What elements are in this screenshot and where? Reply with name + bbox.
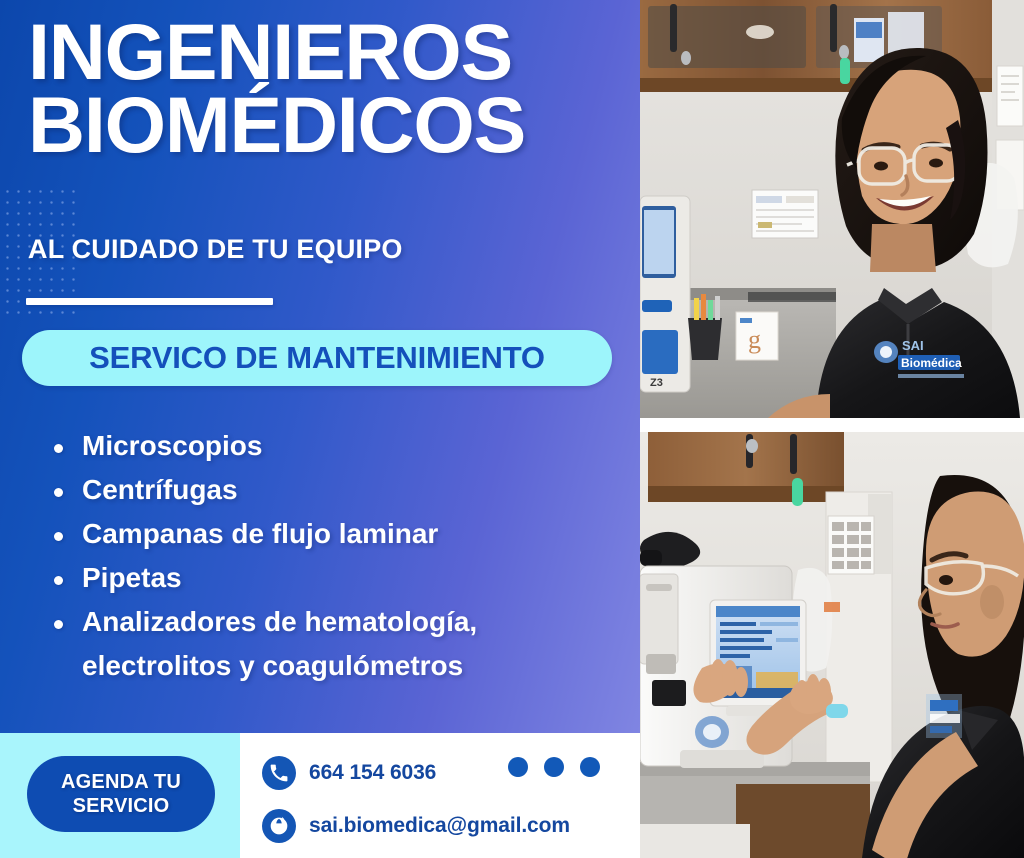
- globe-icon: [262, 809, 296, 843]
- dot: [508, 757, 528, 777]
- technician-operating-analyzer-photo: [640, 432, 1024, 858]
- list-item: Microscopios: [44, 424, 614, 468]
- divider-rule: [26, 298, 273, 305]
- dot-separator-decoration: [508, 757, 600, 777]
- list-item: Campanas de flujo laminar: [44, 512, 614, 556]
- list-item: Centrífugas: [44, 468, 614, 512]
- subtitle: AL CUIDADO DE TU EQUIPO: [28, 234, 403, 265]
- list-item: Pipetas: [44, 556, 614, 600]
- contact-footer: AGENDA TU SERVICIO 664 154 6036 sai.biom…: [0, 733, 640, 858]
- dot: [544, 757, 564, 777]
- left-content-panel: INGENIEROS BIOMÉDICOS AL CUIDADO DE TU E…: [0, 0, 640, 733]
- poster-canvas: INGENIEROS BIOMÉDICOS AL CUIDADO DE TU E…: [0, 0, 1024, 858]
- svg-text:Biomédica: Biomédica: [901, 356, 962, 370]
- headline-line-2: BIOMÉDICOS: [28, 89, 628, 162]
- service-banner-label: SERVICO DE MANTENIMIENTO: [89, 340, 545, 376]
- service-banner: SERVICO DE MANTENIMIENTO: [22, 330, 612, 386]
- phone-icon: [262, 756, 296, 790]
- lab-technician-portrait-photo: Z3 g: [640, 0, 1024, 418]
- cta-line-1: AGENDA TU: [61, 770, 181, 794]
- list-item: Analizadores de hematología, electrolito…: [44, 600, 614, 688]
- email-address: sai.biomedica@gmail.com: [309, 814, 570, 838]
- svg-text:SAI: SAI: [902, 338, 924, 353]
- svg-text:g: g: [748, 325, 761, 354]
- phone-number: 664 154 6036: [309, 761, 436, 785]
- page-title: INGENIEROS BIOMÉDICOS: [28, 16, 628, 161]
- schedule-service-button[interactable]: AGENDA TU SERVICIO: [27, 756, 215, 832]
- email-row[interactable]: sai.biomedica@gmail.com: [262, 804, 570, 848]
- dot: [580, 757, 600, 777]
- svg-text:Z3: Z3: [650, 377, 663, 389]
- cta-line-2: SERVICIO: [73, 794, 170, 818]
- services-list: Microscopios Centrífugas Campanas de flu…: [44, 424, 614, 688]
